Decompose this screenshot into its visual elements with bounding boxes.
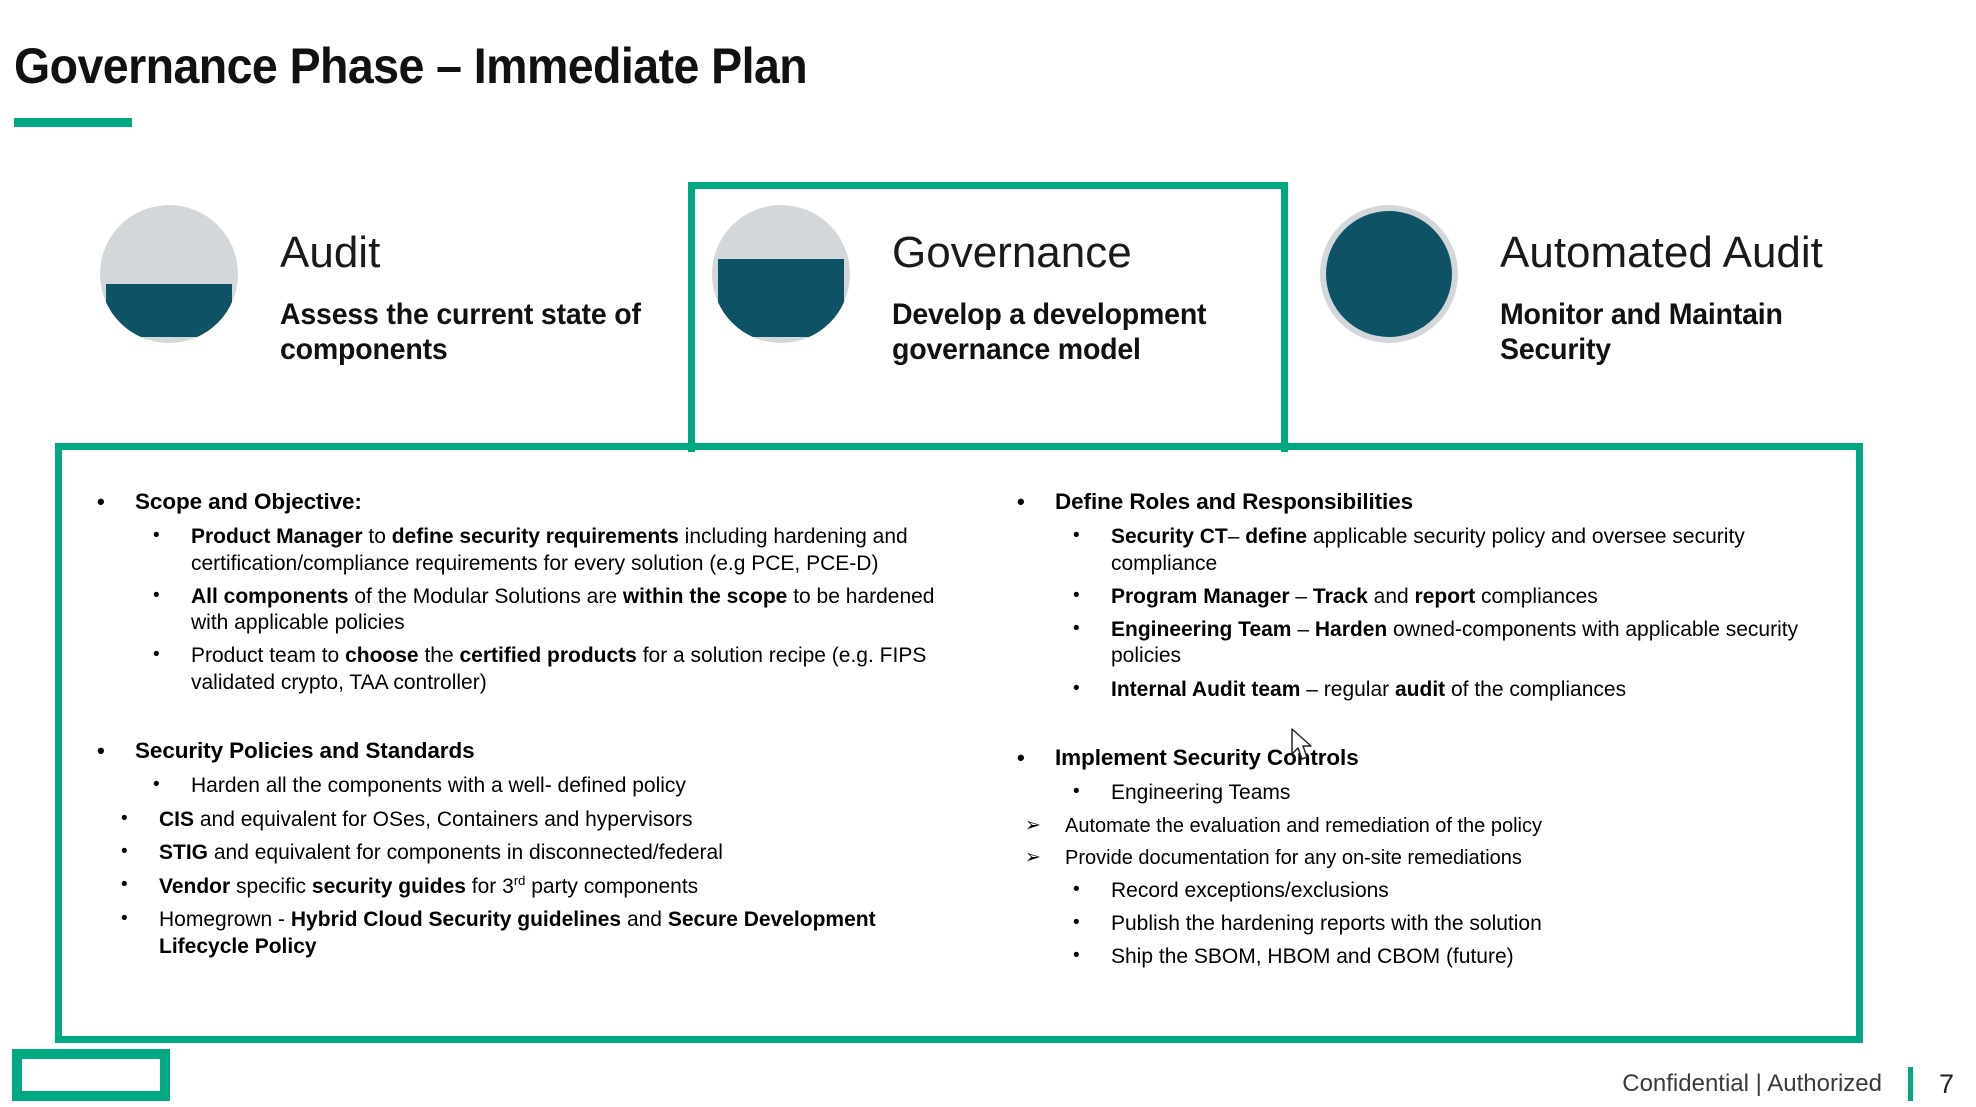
bullet-text: Internal Audit team – regular audit of t…	[1111, 678, 1626, 701]
bullet-text: Provide documentation for any on-site re…	[1065, 847, 1522, 869]
bullet-marker-icon: •	[1017, 743, 1025, 773]
body-columns: •Scope and Objective:•Product Manager to…	[55, 443, 1863, 1043]
bullet-marker-icon: •	[1073, 584, 1080, 609]
bullet-text: CIS and equivalent for OSes, Containers …	[159, 808, 692, 831]
bullet-text: Ship the SBOM, HBOM and CBOM (future)	[1111, 945, 1514, 968]
bullet-marker-icon: •	[153, 643, 160, 668]
circle-full-filled-icon	[1320, 205, 1458, 343]
phase-description: Monitor and Maintain Security	[1500, 297, 1899, 368]
bullet-item-level-2: •Engineering Teams	[1111, 780, 1839, 806]
bullet-item-level-1: •Define Roles and Responsibilities	[1055, 487, 1839, 517]
bullet-marker-icon: •	[1073, 677, 1080, 702]
bullet-item-level-1: •Scope and Objective:	[135, 487, 935, 517]
bullet-item-level-2: •Harden all the components with a well- …	[191, 773, 935, 799]
bullet-spacer	[79, 696, 935, 722]
bullet-marker-icon: •	[97, 736, 105, 766]
confidentiality-label: Confidential | Authorized	[1622, 1070, 1882, 1098]
bullet-item-level-2: •Publish the hardening reports with the …	[1111, 911, 1839, 937]
bullet-text: Record exceptions/exclusions	[1111, 879, 1389, 902]
bullet-spacer	[999, 703, 1839, 729]
bullet-marker-icon: •	[1073, 878, 1080, 903]
bullet-marker-icon: •	[121, 873, 128, 898]
bullet-item-level-2: •Internal Audit team – regular audit of …	[1111, 677, 1839, 703]
mouse-cursor-icon	[1290, 728, 1316, 762]
bullet-marker-icon: •	[1073, 944, 1080, 969]
phase-name: Automated Audit	[1500, 231, 1920, 275]
bullet-text: All components of the Modular Solutions …	[191, 585, 934, 634]
bullet-marker-icon: •	[1073, 780, 1080, 805]
bullet-item-level-2: •All components of the Modular Solutions…	[191, 584, 935, 637]
bullet-item-level-3: •Homegrown - Hybrid Cloud Security guide…	[159, 907, 935, 960]
bullet-item-level-4: ➢Provide documentation for any on-site r…	[1065, 846, 1839, 871]
bullet-text: Security Policies and Standards	[135, 738, 475, 763]
bullet-text: Product Manager to define security requi…	[191, 525, 908, 574]
bullet-item-level-2: •Product Manager to define security requ…	[191, 524, 935, 577]
bullet-marker-icon: •	[153, 773, 160, 798]
bullet-text: Define Roles and Responsibilities	[1055, 489, 1413, 514]
bullet-item-level-2: •Ship the SBOM, HBOM and CBOM (future)	[1111, 944, 1839, 970]
bullet-item-level-2: •Product team to choose the certified pr…	[191, 643, 935, 696]
bullet-marker-icon: •	[97, 487, 105, 517]
bullet-text: Vendor specific security guides for 3rd …	[159, 875, 698, 898]
bullet-text: Security CT– define applicable security …	[1111, 525, 1745, 574]
left-bullet-list: •Scope and Objective:•Product Manager to…	[55, 443, 959, 1043]
bullet-marker-icon: •	[1073, 911, 1080, 936]
bullet-text: Homegrown - Hybrid Cloud Security guidel…	[159, 908, 876, 957]
bullet-text: STIG and equivalent for components in di…	[159, 841, 723, 864]
bullet-text: Product team to choose the certified pro…	[191, 644, 926, 693]
bullet-text: Engineering Team – Harden owned-componen…	[1111, 618, 1798, 667]
bullet-item-level-2: •Engineering Team – Harden owned-compone…	[1111, 617, 1839, 670]
bullet-marker-icon: •	[121, 807, 128, 832]
bullet-item-level-3: •CIS and equivalent for OSes, Containers…	[159, 807, 935, 833]
bullet-marker-icon: •	[121, 840, 128, 865]
bullet-marker-icon: ➢	[1025, 813, 1041, 838]
bullet-text: Program Manager – Track and report compl…	[1111, 585, 1598, 608]
bullet-marker-icon: •	[1017, 487, 1025, 517]
bullet-item-level-2: •Security CT– define applicable security…	[1111, 524, 1839, 577]
right-bullet-list: •Define Roles and Responsibilities•Secur…	[959, 443, 1863, 1043]
bullet-marker-icon: •	[1073, 524, 1080, 549]
title-underline-rule	[14, 118, 132, 127]
hpe-logo	[12, 1049, 170, 1101]
bullet-marker-icon: •	[1073, 617, 1080, 642]
bullet-item-level-2: •Program Manager – Track and report comp…	[1111, 584, 1839, 610]
bullet-marker-icon: •	[121, 907, 128, 932]
bullet-item-level-4: ➢Automate the evaluation and remediation…	[1065, 814, 1839, 839]
bullet-text: Engineering Teams	[1111, 781, 1290, 804]
page-number: 7	[1939, 1069, 1954, 1100]
bullet-item-level-3: •Vendor specific security guides for 3rd…	[159, 873, 935, 900]
phase-description: Assess the current state of components	[280, 297, 679, 368]
bullet-item-level-3: •STIG and equivalent for components in d…	[159, 840, 935, 866]
bullet-marker-icon: ➢	[1025, 845, 1041, 870]
bullet-item-level-1: •Implement Security Controls	[1055, 743, 1839, 773]
footer: Confidential | Authorized 7	[1622, 1067, 1954, 1101]
bullet-text: Automate the evaluation and remediation …	[1065, 815, 1542, 837]
footer-divider	[1908, 1067, 1913, 1101]
bullet-marker-icon: •	[153, 584, 160, 609]
bullet-item-level-2: •Record exceptions/exclusions	[1111, 878, 1839, 904]
governance-highlight-frame	[688, 182, 1288, 452]
bullet-item-level-1: •Security Policies and Standards	[135, 736, 935, 766]
bullet-text: Publish the hardening reports with the s…	[1111, 912, 1542, 935]
bullet-marker-icon: •	[153, 524, 160, 549]
circle-half-filled-icon	[100, 205, 238, 343]
bullet-text: Harden all the components with a well- d…	[191, 774, 686, 797]
page-title: Governance Phase – Immediate Plan	[14, 40, 807, 93]
bullet-text: Scope and Objective:	[135, 489, 362, 514]
phase-name: Audit	[280, 231, 700, 275]
slide-canvas: Governance Phase – Immediate Plan Audit …	[0, 0, 1976, 1107]
